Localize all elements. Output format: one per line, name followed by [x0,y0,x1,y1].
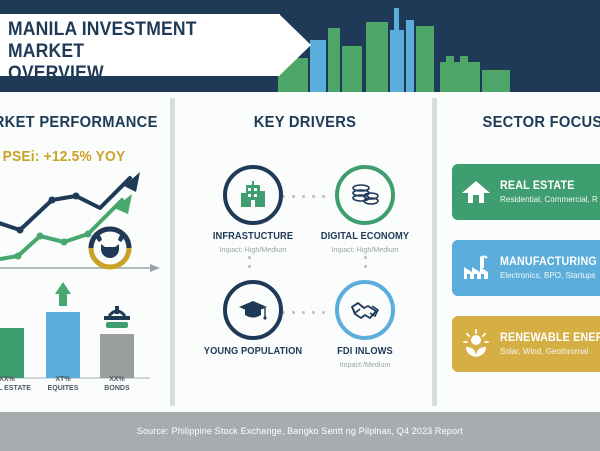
driver-fdi-inlows-ring [335,280,395,340]
solar-leaf-icon [452,329,500,359]
driver-infrastucture-impact: Impact: High/Medium [201,245,306,254]
bond-scale-icon [104,306,130,328]
coins-icon [350,180,380,210]
up-arrow-icon [55,282,71,306]
driver-digital-economy-impact: Impact: High/Medium [313,245,418,254]
driver-young-population[interactable]: YOUNG POPULATION [198,280,308,360]
header-banner: MANILA INVESTMENT MARKET OVERVIEW [0,0,600,92]
page-title: MANILA INVESTMENT MARKET OVERVIEW [8,19,260,84]
market-performance-panel: MARKET PERFORMANCE PSEi: +12.5% YOY [0,92,170,412]
sector-focus-panel: SECTOR FOCUS REAL ESTATE Residential, Co… [440,92,600,412]
driver-fdi-inlows[interactable]: FDI INLOWS Impact:/Medium [310,280,420,369]
market-performance-title: MARKET PERFORMANCE [0,114,162,132]
bar-value-real-estate: XX% [0,374,35,383]
bar-name-real-estate: REAL ESTATE [0,383,35,392]
footer-bar: Source: Philippine Stock Exchange, Bangk… [0,412,600,451]
driver-fdi-inlows-name: FDI INLOWS [314,346,416,358]
handshake-icon [349,297,381,323]
sector-card-renewable-energy-name: RENEWABLE ENERGY [500,332,600,344]
panel-divider-a [170,98,175,406]
psei-stat: PSEi: +12.5% YOY [0,148,162,165]
bar-label-real-estate: XX% REAL ESTATE [0,374,35,393]
bar-label-bonds: XX% BONDS [89,374,145,393]
bar-chart-labels: XX% REAL ESTATE XT% EQUITES XX% BONDS [0,374,164,408]
bar-label-equites: XT% EQUITES [35,374,91,393]
asset-class-bar-chart [0,278,164,388]
driver-young-population-name: YOUNG POPULATION [202,346,304,358]
sector-card-real-estate-text: REAL ESTATE Residential, Commercial, R [500,180,600,204]
sector-card-renewable-energy[interactable]: RENEWABLE ENERGY Solar, Wind, Geothrorna… [452,316,600,372]
driver-infrastucture-ring [223,165,283,225]
driver-young-population-ring [223,280,283,340]
market-line-chart [0,170,164,280]
driver-fdi-inlows-impact: Impact:/Medium [313,360,418,369]
house-icon [452,178,500,206]
driver-digital-economy-ring [335,165,395,225]
driver-infrastucture-name: INFRASTUCTURE [202,231,304,243]
driver-digital-economy[interactable]: DIGITAL ECONOMY Impact: High/Medium [310,165,420,254]
key-drivers-title: KEY DRIVERS [188,114,422,132]
city-skyline-icon [270,0,600,92]
bar-name-bonds: BONDS [89,383,145,392]
graduation-cap-icon [237,295,269,325]
sector-card-renewable-energy-desc: Solar, Wind, Geothrornal [500,346,600,356]
sector-card-real-estate-name: REAL ESTATE [500,180,596,192]
panel-divider-b [432,98,437,406]
sector-card-real-estate-desc: Residential, Commercial, R [500,194,598,204]
bar-value-bonds: XX% [89,374,145,383]
sector-card-manufacturing-tech-text: MANUFACTURING & TE Electronics, BPO, Sta… [500,256,600,280]
key-drivers-panel: KEY DRIVERS [178,92,432,412]
source-citation: Source: Philippine Stock Exchange, Bangk… [137,426,463,437]
factory-icon [452,255,500,281]
page-title-line-1: MANILA INVESTMENT MARKET [8,19,260,63]
sector-card-manufacturing-tech[interactable]: MANUFACTURING & TE Electronics, BPO, Sta… [452,240,600,296]
driver-digital-economy-name: DIGITAL ECONOMY [314,231,416,243]
panels-container: MARKET PERFORMANCE PSEi: +12.5% YOY [0,92,600,412]
connector-dots-right-vertical [364,256,367,276]
sector-card-renewable-energy-text: RENEWABLE ENERGY Solar, Wind, Geothrorna… [500,332,600,356]
sector-card-manufacturing-tech-desc: Electronics, BPO, Startups [500,270,600,280]
sector-focus-title: SECTOR FOCUS [448,114,600,132]
sector-card-manufacturing-tech-name: MANUFACTURING & TE [500,256,600,268]
bar-value-equites: XT% [35,374,91,383]
driver-infrastucture[interactable]: INFRASTUCTURE Impact: High/Medium [198,165,308,254]
infographic-root: MANILA INVESTMENT MARKET OVERVIEW MARKET… [0,0,600,451]
bar-name-equites: EQUITES [35,383,91,392]
sector-card-real-estate[interactable]: REAL ESTATE Residential, Commercial, R [452,164,600,220]
building-icon [238,180,268,210]
bull-icon [91,229,129,267]
page-title-line-2: OVERVIEW [8,63,260,85]
ribbon-arrow-point [279,14,311,76]
connector-dots-left-vertical [248,256,251,276]
